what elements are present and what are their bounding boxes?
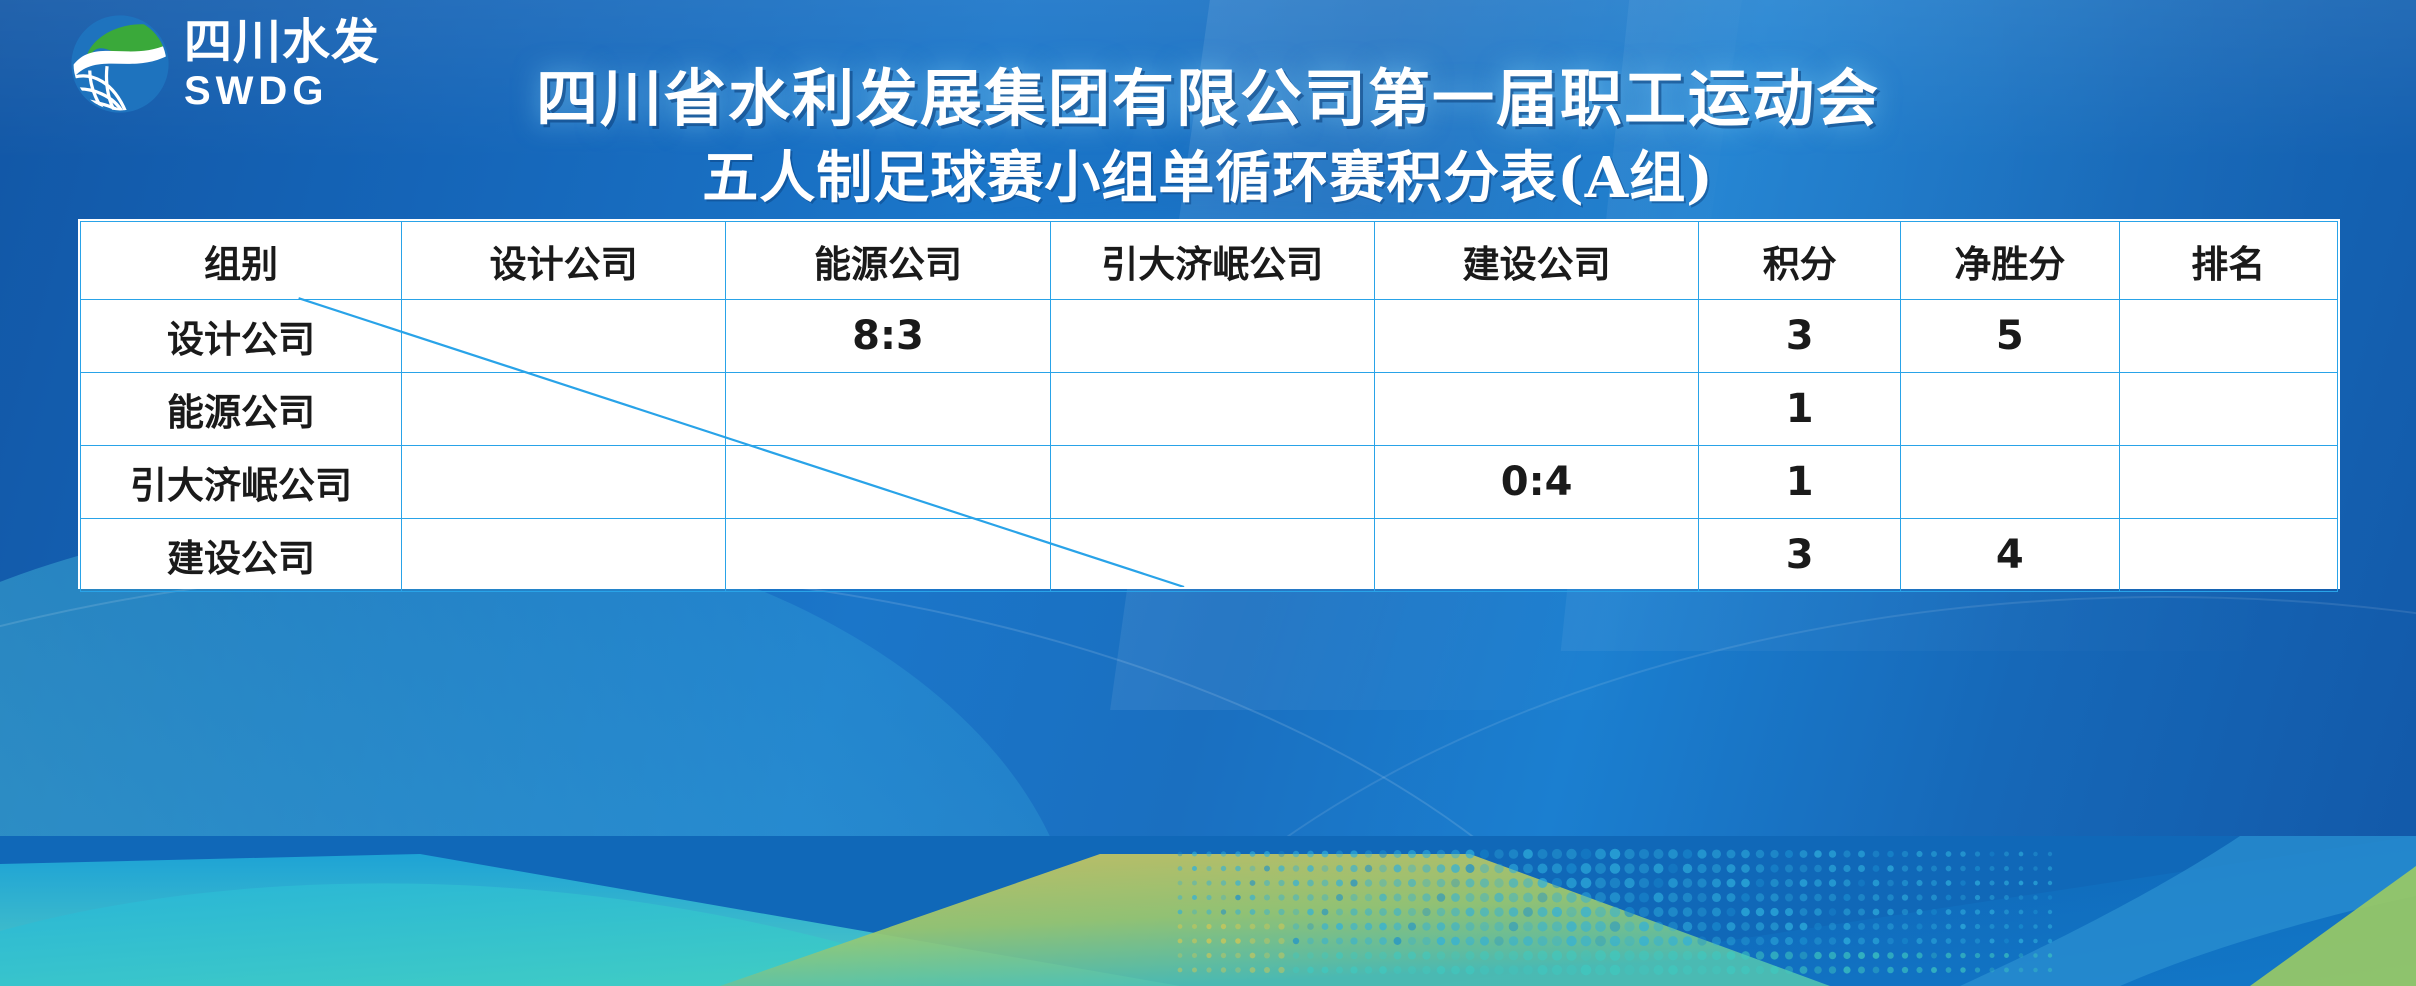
column-header-rank: 排名 (2119, 222, 2337, 300)
cell-goal-diff (1901, 373, 2119, 446)
cell-vs-yindaji (1050, 446, 1374, 519)
row-team-name: 设计公司 (81, 300, 402, 373)
standings-table-container: 组别 设计公司 能源公司 引大济岷公司 建设公司 积分 净胜分 排名 设计公司 … (78, 219, 2340, 589)
cell-vs-construction (1374, 373, 1698, 446)
table-row: 引大济岷公司 0:4 1 (81, 446, 2338, 519)
table-header-row: 组别 设计公司 能源公司 引大济岷公司 建设公司 积分 净胜分 排名 (81, 222, 2338, 300)
column-header-construction: 建设公司 (1374, 222, 1698, 300)
cell-rank (2119, 519, 2337, 592)
row-team-name: 能源公司 (81, 373, 402, 446)
column-header-points: 积分 (1699, 222, 1901, 300)
table-row: 建设公司 3 4 (81, 519, 2338, 592)
cell-points: 1 (1699, 373, 1901, 446)
table-row: 能源公司 1 (81, 373, 2338, 446)
cell-vs-yindaji (1050, 300, 1374, 373)
cell-vs-energy (726, 519, 1050, 592)
cell-points: 1 (1699, 446, 1901, 519)
cell-vs-design (402, 519, 726, 592)
cell-points: 3 (1699, 519, 1901, 592)
cell-vs-construction (1374, 519, 1698, 592)
table-row: 设计公司 8:3 3 5 (81, 300, 2338, 373)
cell-rank (2119, 446, 2337, 519)
column-header-goal-diff: 净胜分 (1901, 222, 2119, 300)
cell-rank (2119, 300, 2337, 373)
cell-rank (2119, 373, 2337, 446)
row-team-name: 引大济岷公司 (81, 446, 402, 519)
cell-vs-design (402, 300, 726, 373)
cell-vs-energy (726, 373, 1050, 446)
cell-vs-construction: 0:4 (1374, 446, 1698, 519)
cell-vs-yindaji (1050, 373, 1374, 446)
standings-board: 四川水发 SWDG 四川省水利发展集团有限公司第一届职工运动会 五人制足球赛小组… (0, 0, 2416, 986)
cell-vs-design (402, 373, 726, 446)
row-team-name: 建设公司 (81, 519, 402, 592)
column-header-yindaji: 引大济岷公司 (1050, 222, 1374, 300)
cell-points: 3 (1699, 300, 1901, 373)
cell-vs-energy (726, 446, 1050, 519)
page-title: 四川省水利发展集团有限公司第一届职工运动会 (0, 48, 2416, 138)
cell-vs-yindaji (1050, 519, 1374, 592)
cell-goal-diff: 4 (1901, 519, 2119, 592)
bottom-decoration-icon (0, 836, 2416, 986)
cell-vs-energy: 8:3 (726, 300, 1050, 373)
cell-goal-diff (1901, 446, 2119, 519)
page-subtitle: 五人制足球赛小组单循环赛积分表(A组) (0, 133, 2416, 214)
column-header-group: 组别 (81, 222, 402, 300)
column-header-design: 设计公司 (402, 222, 726, 300)
cell-vs-construction (1374, 300, 1698, 373)
column-header-energy: 能源公司 (726, 222, 1050, 300)
standings-table: 组别 设计公司 能源公司 引大济岷公司 建设公司 积分 净胜分 排名 设计公司 … (80, 221, 2338, 592)
cell-vs-design (402, 446, 726, 519)
cell-goal-diff: 5 (1901, 300, 2119, 373)
